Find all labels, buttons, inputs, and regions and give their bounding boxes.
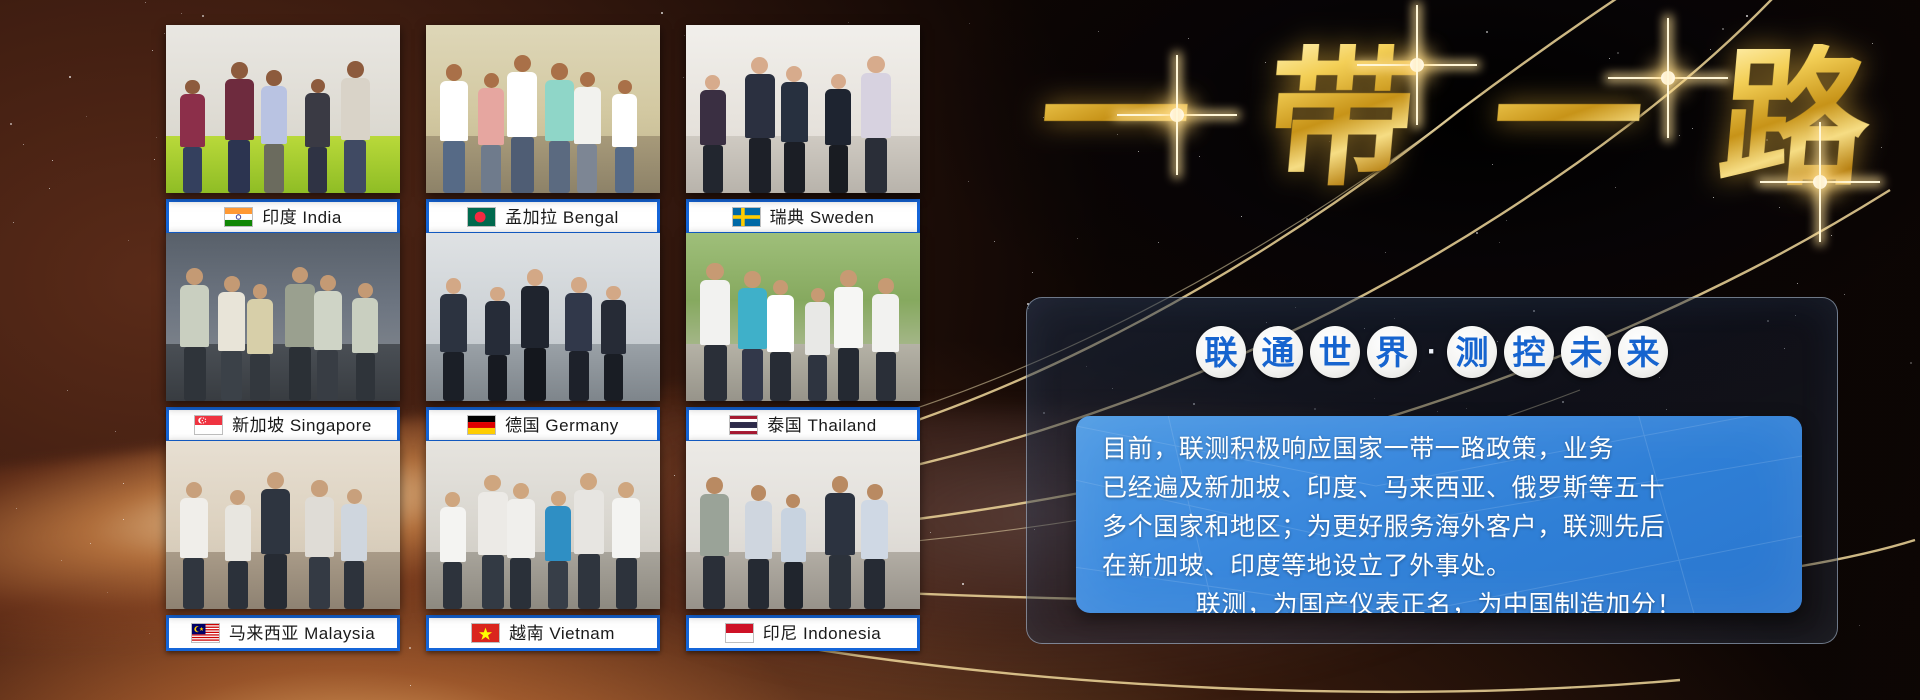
country-label: 德国 Germany xyxy=(426,407,660,443)
photo-person xyxy=(521,269,550,401)
photo-person xyxy=(341,489,367,609)
photo-person xyxy=(305,79,330,193)
photo-person xyxy=(612,482,640,609)
slogan-char-badge: 来 xyxy=(1618,326,1668,378)
photo-person xyxy=(225,62,254,193)
photo-person xyxy=(781,66,809,193)
flag-icon-malaysia xyxy=(191,623,220,643)
photo-person xyxy=(612,80,637,193)
photo-person xyxy=(261,472,291,609)
photo-person xyxy=(225,490,251,609)
photo-person xyxy=(861,56,891,193)
country-photo-grid: 印度 India孟加拉 Bengal瑞典 Sweden新加坡 Singapore… xyxy=(166,25,920,570)
photo-person xyxy=(218,276,245,401)
photo-person xyxy=(285,267,314,401)
photo-person xyxy=(485,287,510,401)
country-photo xyxy=(686,441,920,609)
country-caption: 瑞典 Sweden xyxy=(770,209,875,226)
photo-person xyxy=(478,475,507,609)
country-label: 新加坡 Singapore xyxy=(166,407,400,443)
photo-person xyxy=(507,55,537,193)
flag-icon-bangladesh xyxy=(467,207,496,227)
photo-person xyxy=(565,277,592,401)
banner-stage: 一 带 一 路 印度 India孟加拉 Bengal瑞典 Sweden新加坡 S… xyxy=(0,0,1920,700)
country-caption: 德国 Germany xyxy=(505,417,619,434)
description-line-3: 多个国家和地区；为更好服务海外客户，联测先后 xyxy=(1102,508,1776,547)
country-caption: 印度 India xyxy=(262,209,342,226)
calligraphy-char-1: 一 xyxy=(1033,44,1196,194)
photo-person xyxy=(700,477,729,609)
description-box: 目前，联测积极响应国家一带一路政策，业务 已经遍及新加坡、印度、马来西亚、俄罗斯… xyxy=(1076,416,1802,613)
country-card[interactable]: 孟加拉 Bengal xyxy=(426,25,660,235)
slogan-separator: · xyxy=(1427,337,1437,367)
country-photo xyxy=(166,233,400,401)
photo-person xyxy=(247,284,272,401)
info-panel: 联通世界·测控未来 目前，联测积极响应国家一带一路政策，业务 已经遍及新加坡、印… xyxy=(1026,297,1838,644)
photo-person xyxy=(440,278,467,401)
description-line-2: 已经遍及新加坡、印度、马来西亚、俄罗斯等五十 xyxy=(1102,469,1776,508)
calligraphy-char-3: 一 xyxy=(1487,44,1650,194)
photo-person xyxy=(180,268,209,401)
photo-person xyxy=(700,75,726,193)
photo-person xyxy=(574,473,604,609)
country-label: 泰国 Thailand xyxy=(686,407,920,443)
country-photo xyxy=(426,441,660,609)
country-label: 马来西亚 Malaysia xyxy=(166,615,400,651)
country-caption: 泰国 Thailand xyxy=(767,417,876,434)
photo-person xyxy=(545,63,573,193)
photo-person xyxy=(341,61,370,193)
description-line-1: 目前，联测积极响应国家一带一路政策，业务 xyxy=(1102,430,1776,469)
flag-icon-vietnam xyxy=(471,623,500,643)
flag-icon-indonesia xyxy=(725,623,754,643)
country-caption: 孟加拉 Bengal xyxy=(505,209,619,226)
country-photo xyxy=(686,25,920,193)
photo-person xyxy=(545,491,571,609)
description-text: 目前，联测积极响应国家一带一路政策，业务 已经遍及新加坡、印度、马来西亚、俄罗斯… xyxy=(1076,416,1802,613)
country-card[interactable]: 泰国 Thailand xyxy=(686,233,920,443)
country-label: 越南 Vietnam xyxy=(426,615,660,651)
photo-person xyxy=(872,278,899,401)
photo-person xyxy=(767,280,794,401)
country-label: 印度 India xyxy=(166,199,400,235)
photo-person xyxy=(781,494,806,609)
country-photo xyxy=(426,25,660,193)
country-card[interactable]: 瑞典 Sweden xyxy=(686,25,920,235)
calligraphy-headline: 一 带 一 路 xyxy=(1040,14,1870,224)
photo-person xyxy=(180,482,208,609)
photo-person xyxy=(440,64,468,193)
photo-person xyxy=(601,286,626,401)
country-card[interactable]: 新加坡 Singapore xyxy=(166,233,400,443)
slogan-char-badge: 测 xyxy=(1447,326,1497,378)
flag-icon-sweden xyxy=(732,207,761,227)
slogan-row: 联通世界·测控未来 xyxy=(1027,326,1837,378)
slogan-char-badge: 未 xyxy=(1561,326,1611,378)
photo-person xyxy=(305,480,333,609)
country-label: 印尼 Indonesia xyxy=(686,615,920,651)
slogan-char-badge: 控 xyxy=(1504,326,1554,378)
country-caption: 印尼 Indonesia xyxy=(763,625,881,642)
country-label: 瑞典 Sweden xyxy=(686,199,920,235)
country-label: 孟加拉 Bengal xyxy=(426,199,660,235)
photo-person xyxy=(861,484,888,609)
photo-person xyxy=(745,57,775,193)
photo-person xyxy=(745,485,772,609)
flag-icon-thailand xyxy=(729,415,758,435)
flag-icon-singapore xyxy=(194,415,223,435)
country-caption: 新加坡 Singapore xyxy=(232,417,372,434)
photo-person xyxy=(834,270,863,401)
photo-person xyxy=(352,283,378,401)
country-card[interactable]: 德国 Germany xyxy=(426,233,660,443)
country-card[interactable]: 越南 Vietnam xyxy=(426,441,660,651)
country-card[interactable]: 印度 India xyxy=(166,25,400,235)
slogan-char-badge: 联 xyxy=(1196,326,1246,378)
country-photo xyxy=(426,233,660,401)
calligraphy-char-4: 路 xyxy=(1713,44,1876,194)
country-caption: 马来西亚 Malaysia xyxy=(229,625,375,642)
photo-person xyxy=(805,288,830,401)
photo-person xyxy=(314,275,342,401)
slogan-char-badge: 世 xyxy=(1310,326,1360,378)
photo-person xyxy=(478,73,504,193)
photo-person xyxy=(738,271,766,401)
photo-person xyxy=(507,483,535,609)
country-card[interactable]: 印尼 Indonesia xyxy=(686,441,920,651)
slogan-char-badge: 界 xyxy=(1367,326,1417,378)
description-line-4: 在新加坡、印度等地设立了外事处。 xyxy=(1102,547,1776,586)
photo-person xyxy=(440,492,465,609)
photo-person xyxy=(825,476,854,609)
slogan-char-badge: 通 xyxy=(1253,326,1303,378)
photo-person xyxy=(574,72,601,193)
photo-person xyxy=(180,80,205,193)
flag-icon-india xyxy=(224,207,253,227)
country-photo xyxy=(166,25,400,193)
flag-icon-germany xyxy=(467,415,496,435)
description-closing: 联测，为国产仪表正名，为中国制造加分！ xyxy=(1102,586,1776,613)
country-photo xyxy=(686,233,920,401)
photo-person xyxy=(700,263,730,401)
country-caption: 越南 Vietnam xyxy=(509,625,615,642)
photo-person xyxy=(825,74,851,193)
country-photo xyxy=(166,441,400,609)
photo-person xyxy=(261,70,288,193)
country-card[interactable]: 马来西亚 Malaysia xyxy=(166,441,400,651)
calligraphy-char-2: 带 xyxy=(1260,44,1423,194)
